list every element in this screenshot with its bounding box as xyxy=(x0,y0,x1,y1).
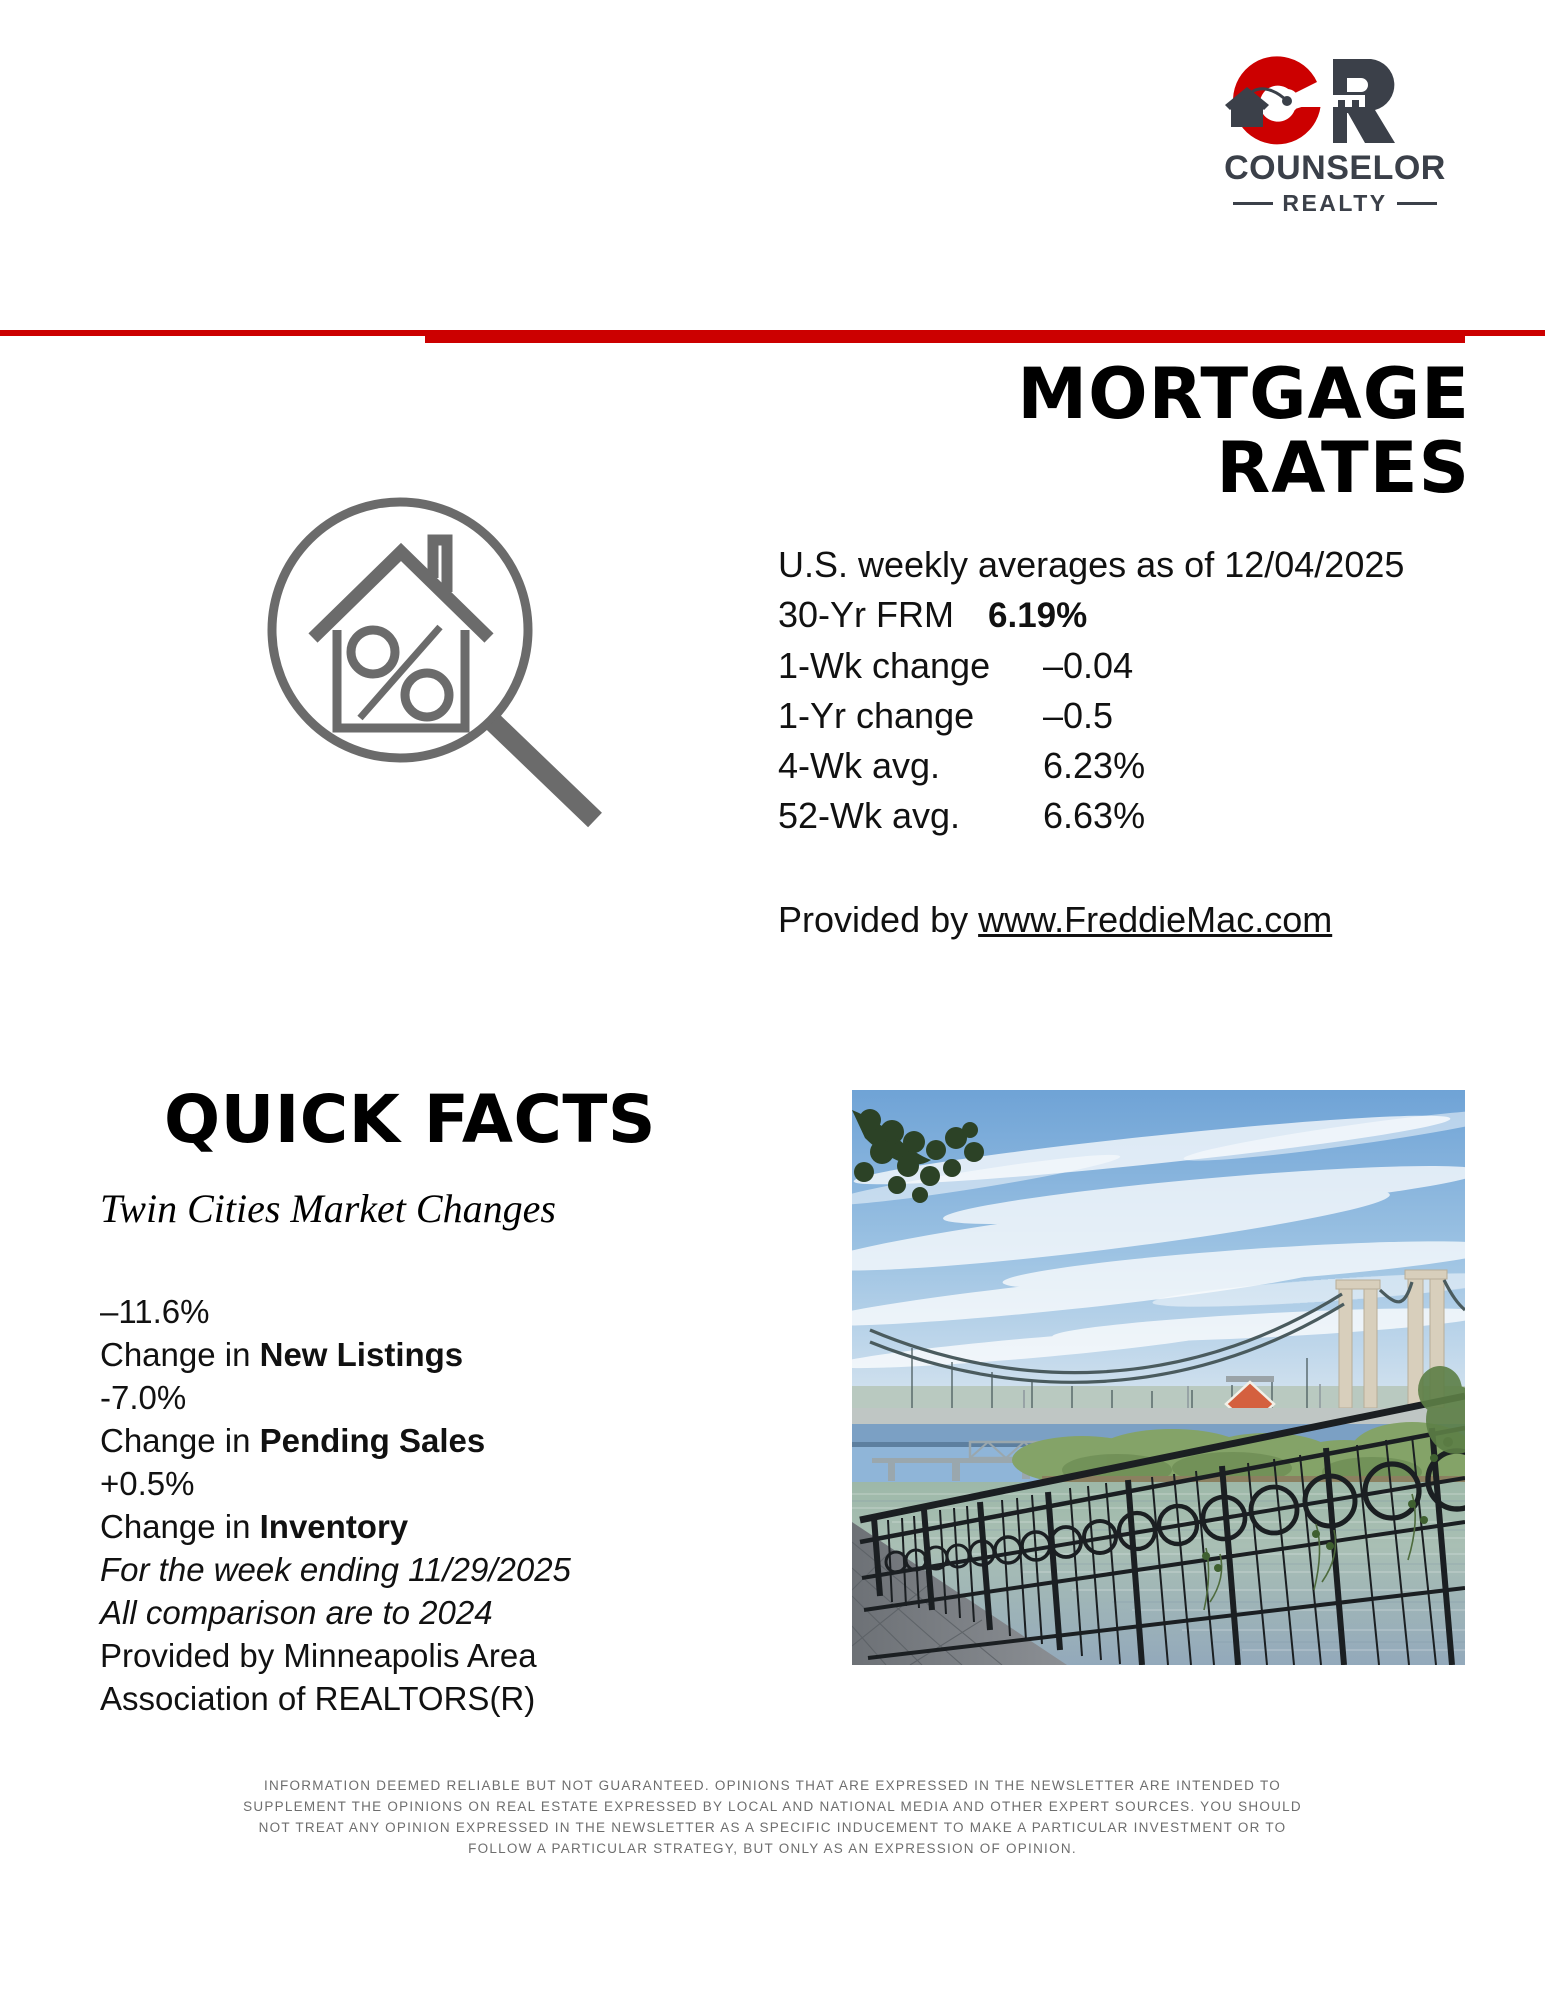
rate-row-52wk-avg: 52-Wk avg. 6.63% xyxy=(778,791,1478,841)
logo-wordmark: COUNSELOR xyxy=(1215,151,1455,185)
stat-label-prefix: Change in xyxy=(100,1508,260,1545)
logo-subwordmark: REALTY xyxy=(1282,192,1387,215)
rate-row-4wk-avg: 4-Wk avg. 6.23% xyxy=(778,741,1478,791)
logo-rule-left xyxy=(1233,202,1273,205)
rate-label: 1-Yr change xyxy=(778,691,1043,741)
disclaimer-text: INFORMATION DEEMED RELIABLE BUT NOT GUAR… xyxy=(150,1775,1395,1859)
quick-facts-subtitle: Twin Cities Market Changes xyxy=(100,1185,720,1233)
rate-row-30yr-frm: 30-Yr FRM 6.19% xyxy=(778,590,1478,641)
stat-label-prefix: Change in xyxy=(100,1422,260,1459)
freddiemac-link[interactable]: www.FreddieMac.com xyxy=(978,899,1332,940)
quick-facts-list: –11.6% Change in New Listings -7.0% Chan… xyxy=(100,1290,740,1720)
rate-label: 52-Wk avg. xyxy=(778,791,1043,841)
stat-label-bold: Inventory xyxy=(260,1508,409,1545)
counselor-realty-logo: COUNSELOR REALTY xyxy=(1215,55,1455,205)
rates-headline: U.S. weekly averages as of 12/04/2025 xyxy=(778,540,1478,590)
rate-label: 30-Yr FRM xyxy=(778,590,988,640)
rate-value: 6.23% xyxy=(1043,741,1145,791)
quick-facts-week-note: For the week ending 11/29/2025 xyxy=(100,1548,740,1591)
rate-row-1wk-change: 1-Wk change –0.04 xyxy=(778,641,1478,691)
stat-label-inventory: Change in Inventory xyxy=(100,1505,740,1548)
disclaimer-line-1: INFORMATION DEEMED RELIABLE BUT NOT GUAR… xyxy=(150,1775,1395,1796)
rate-value: 6.63% xyxy=(1043,791,1145,841)
stat-label-new-listings: Change in New Listings xyxy=(100,1333,740,1376)
stat-value-new-listings: –11.6% xyxy=(100,1290,740,1333)
rate-value: 6.19% xyxy=(988,591,1087,641)
mortgage-rates-table: U.S. weekly averages as of 12/04/2025 30… xyxy=(778,540,1478,841)
rate-label: 4-Wk avg. xyxy=(778,741,1043,791)
disclaimer-line-2: SUPPLEMENT THE OPINIONS ON REAL ESTATE E… xyxy=(150,1796,1395,1817)
quick-facts-source-line1: Provided by Minneapolis Area xyxy=(100,1634,740,1677)
stat-label-prefix: Change in xyxy=(100,1336,260,1373)
rate-value: –0.04 xyxy=(1043,641,1133,691)
logo-subwordmark-row: REALTY xyxy=(1215,192,1455,215)
stat-label-pending-sales: Change in Pending Sales xyxy=(100,1419,740,1462)
disclaimer-line-3: NOT TREAT ANY OPINION EXPRESSED IN THE N… xyxy=(150,1817,1395,1838)
disclaimer-line-4: FOLLOW A PARTICULAR STRATEGY, BUT ONLY A… xyxy=(150,1838,1395,1859)
rates-attribution-prefix: Provided by xyxy=(778,899,978,940)
red-divider-thick xyxy=(425,330,1465,343)
stat-label-bold: New Listings xyxy=(260,1336,464,1373)
quick-facts-source-line2: Association of REALTORS(R) xyxy=(100,1677,740,1720)
stat-label-bold: Pending Sales xyxy=(260,1422,486,1459)
minneapolis-riverfront-bridge-photo xyxy=(852,1090,1465,1665)
stat-value-inventory: +0.5% xyxy=(100,1462,740,1505)
rate-value: –0.5 xyxy=(1043,691,1113,741)
stat-value-pending-sales: -7.0% xyxy=(100,1376,740,1419)
rates-attribution: Provided by www.FreddieMac.com xyxy=(778,895,1332,945)
rate-label: 1-Wk change xyxy=(778,641,1043,691)
rate-row-1yr-change: 1-Yr change –0.5 xyxy=(778,691,1478,741)
cr-monogram-icon xyxy=(1215,55,1455,147)
mortgage-rates-heading: MORTGAGE RATES xyxy=(770,358,1470,505)
house-percent-magnifier-icon xyxy=(255,490,625,840)
quick-facts-comparison-note: All comparison are to 2024 xyxy=(100,1591,740,1634)
logo-rule-right xyxy=(1397,202,1437,205)
newsletter-page: COUNSELOR REALTY MORTGAGE RATES xyxy=(0,0,1545,2000)
quick-facts-heading: QUICK FACTS xyxy=(100,1085,720,1154)
